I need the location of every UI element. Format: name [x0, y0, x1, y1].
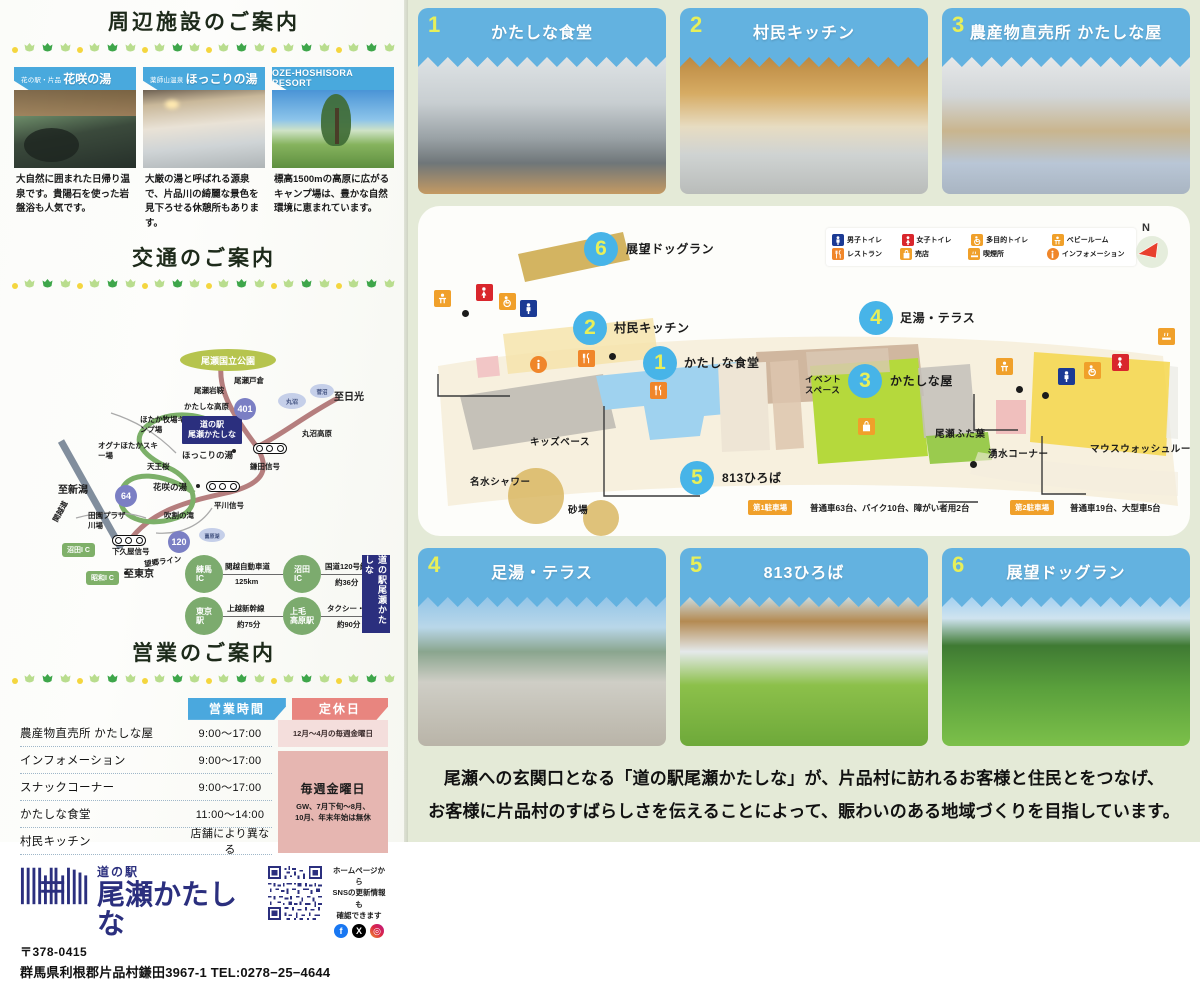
- information-icon: [530, 356, 547, 373]
- womens-toilet-icon: [476, 284, 493, 301]
- traffic-title: 交通のご案内: [10, 232, 398, 272]
- legend-label: インフォメーション: [1062, 249, 1125, 259]
- tulip-icon: [365, 672, 378, 690]
- tulip-icon: [318, 278, 331, 290]
- route-mid-label: 関越自動車道: [225, 561, 270, 572]
- hours-table: 営業時間 定休日 農産物直売所 かたしな屋 9:00〜17:00 インフォメーシ…: [20, 698, 388, 855]
- tulip-icon: [253, 41, 266, 59]
- flower-dot-icon: [12, 678, 18, 684]
- map-label-spring-water: 湧水コーナー: [988, 446, 1049, 460]
- map-label-kids-base: キッズベース: [530, 434, 590, 448]
- tulip-icon: [365, 673, 378, 685]
- footer-line-1: 尾瀬への玄関口となる「道の駅尾瀬かたしな」が、片品村に訪れるお客様と住民とをつな…: [418, 762, 1190, 795]
- instagram-icon[interactable]: ◎: [370, 924, 384, 938]
- address-line: 群馬県利根郡片品村鎌田3967-1 TEL:0278−25−4644: [20, 962, 388, 981]
- brand-line2: 尾瀬かたしな: [97, 880, 258, 939]
- legend-row: レストラン 売店 喫煙所: [832, 248, 1130, 260]
- accessible-toilet-icon: [971, 234, 983, 246]
- photo-card-number: 4: [428, 552, 440, 578]
- legend-item: インフォメーション: [1047, 248, 1130, 260]
- map-point-dot: [462, 310, 469, 317]
- michinoeki-logo-icon: [20, 863, 91, 907]
- tulip-icon: [171, 42, 184, 54]
- right-panel: 1 かたしな食堂 2 村民キッチン: [408, 0, 1200, 842]
- mens-toilet-icon: [832, 234, 844, 246]
- map-label-hokkori: ほっこりの湯: [182, 449, 233, 461]
- tulip-icon: [282, 277, 295, 295]
- map-label-2: 村民キッチン: [614, 319, 690, 336]
- map-label-1: かたしな食堂: [684, 354, 760, 371]
- baby-room-icon: [1052, 234, 1064, 246]
- zigzag-mask: [418, 54, 666, 70]
- map-marker-2[interactable]: 2: [573, 311, 607, 345]
- closed-days-label: 毎週金曜日: [300, 780, 365, 797]
- map-label-oze-iwakura: 尾瀬岩鞍: [194, 385, 224, 396]
- tulip-icon: [217, 42, 230, 54]
- tulip-icon: [217, 672, 230, 690]
- table-row: インフォメーション 9:00〜17:00: [20, 747, 272, 774]
- photo-card-title: 展望ドッグラン: [1006, 559, 1125, 583]
- ic-badge-numata: 沼田I C: [62, 543, 95, 557]
- map-label-katashina-kogen: かたしな高原: [184, 401, 229, 412]
- flower-dot-icon: [142, 678, 148, 684]
- tulip-icon: [106, 277, 119, 295]
- flower-divider-1: [12, 41, 396, 59]
- traffic-light-hirakawa: [206, 481, 240, 492]
- brand-line1: 道の駅: [97, 863, 258, 880]
- tulip-icon: [23, 41, 36, 59]
- top-photo-cards: 1 かたしな食堂 2 村民キッチン: [418, 8, 1190, 194]
- hours-row-time: 9:00〜17:00: [188, 779, 272, 795]
- legend-label: 売店: [915, 249, 929, 259]
- facility-photo: [143, 90, 265, 168]
- photo-card-title: 農産物直売所 かたしな屋: [970, 19, 1162, 43]
- map-spot-dot: [124, 571, 128, 575]
- map-label-denen-plaza: 田園プラザ川場: [88, 511, 130, 531]
- map-label-marunuma-kogen: 丸沼高原: [302, 428, 332, 439]
- facility-banner-big: ほっこりの湯: [186, 70, 258, 87]
- tulip-icon: [365, 42, 378, 54]
- tulip-icon: [235, 278, 248, 290]
- map-label-oguna-ski: オグナほたかスキー場: [98, 441, 160, 461]
- facility-card[interactable]: 薬師山温泉 ほっこりの湯 大厳の湯と呼ばれる源泉で、片品川の綺麗な景色を見下ろせ…: [143, 67, 265, 232]
- photo-card-title: かたしな食堂: [491, 19, 593, 43]
- tulip-icon: [153, 42, 166, 54]
- route-node-nerima-ic: 練馬IC: [185, 555, 223, 593]
- tulip-icon: [124, 42, 137, 54]
- closed-days-main: 毎週金曜日 GW、7月下旬〜8月、 10月、年末年始は無休: [278, 751, 388, 853]
- photo-card-header: 6 展望ドッグラン: [942, 548, 1190, 594]
- tulip-icon: [171, 277, 184, 295]
- route-end-sub: 約90分: [337, 619, 360, 630]
- photo-card[interactable]: 2 村民キッチン: [680, 8, 928, 194]
- tulip-icon: [318, 42, 331, 54]
- tulip-icon: [188, 673, 201, 685]
- tulip-icon: [282, 672, 295, 690]
- tulip-icon: [88, 673, 101, 685]
- facility-caption: 大自然に囲まれた日帰り温泉です。貴陽石を使った岩盤浴も人気です。: [14, 168, 136, 217]
- tulip-icon: [365, 277, 378, 295]
- flower-dot-icon: [12, 47, 18, 53]
- tulip-icon: [253, 672, 266, 690]
- zigzag-mask: [418, 594, 666, 610]
- photo-card-image: [680, 54, 928, 194]
- tulip-icon: [253, 278, 266, 290]
- hours-rows: 農産物直売所 かたしな屋 9:00〜17:00 インフォメーション 9:00〜1…: [20, 720, 272, 855]
- hours-row-time: 9:00〜17:00: [188, 752, 272, 768]
- route-node-tokyo-sta: 東京駅: [185, 597, 223, 635]
- address-block: 〒378-0415 群馬県利根郡片品村鎌田3967-1 TEL:0278−25−…: [20, 943, 388, 981]
- facebook-icon[interactable]: f: [334, 924, 348, 938]
- map-label-shimokuya-signal: 下久屋信号: [112, 546, 150, 557]
- legend-item: ベビールーム: [1052, 234, 1130, 246]
- flower-dot-icon: [77, 678, 83, 684]
- flower-dot-icon: [206, 678, 212, 684]
- legend-item: レストラン: [832, 248, 896, 260]
- tulip-icon: [365, 41, 378, 59]
- tulip-icon: [41, 672, 54, 690]
- flower-dot-icon: [142, 47, 148, 53]
- hours-col-time: 営業時間: [188, 698, 286, 720]
- tulip-icon: [300, 277, 313, 295]
- compass-north-label: N: [1142, 222, 1150, 234]
- tulip-icon: [153, 277, 166, 295]
- map-label-oze-futaba: 尾瀬ふた葉: [935, 426, 986, 440]
- tulip-icon: [153, 278, 166, 290]
- map-marker-5[interactable]: 5: [680, 461, 714, 495]
- route-table: 練馬IC 沼田IC 東京駅 上毛高原駅 関越自動車道 125km 国道120号線…: [185, 555, 390, 633]
- svg-text:丸沼: 丸沼: [285, 398, 298, 406]
- map-marker-3[interactable]: 3: [848, 364, 882, 398]
- tulip-icon: [59, 673, 72, 685]
- restaurant-icon: [650, 382, 667, 399]
- tulip-icon: [253, 277, 266, 295]
- map-label-meisui-shower: 名水シャワー: [470, 474, 531, 488]
- tulip-icon: [318, 277, 331, 295]
- tulip-icon: [188, 42, 201, 54]
- tulip-icon: [253, 673, 266, 685]
- photo-card[interactable]: 1 かたしな食堂: [418, 8, 666, 194]
- sns-note: ホームページから SNSの更新情報も 確認できます: [330, 865, 388, 921]
- bottom-photo-cards: 4 足湯・テラス 5 813ひろば: [418, 548, 1190, 746]
- x-icon[interactable]: X: [352, 924, 366, 938]
- tulip-icon: [124, 277, 137, 295]
- womens-toilet-icon: [902, 234, 914, 246]
- tulip-icon: [23, 42, 36, 54]
- photo-card-header: 1 かたしな食堂: [418, 8, 666, 54]
- map-label-4: 足湯・テラス: [900, 309, 975, 326]
- map-label-to-nikko: 至日光: [334, 388, 364, 403]
- route-badge-120: 120: [168, 531, 190, 553]
- ic-badge-showa: 昭和I C: [86, 571, 119, 585]
- map-marker-4[interactable]: 4: [859, 301, 893, 335]
- tulip-icon: [106, 41, 119, 59]
- tulip-icon: [300, 672, 313, 690]
- tulip-icon: [171, 278, 184, 290]
- legend-item: 喫煙所: [968, 248, 1043, 260]
- legend-item: 女子トイレ: [902, 234, 968, 246]
- map-marker-1[interactable]: 1: [643, 346, 677, 380]
- parking-detail-2: 普通車19台、大型車5台: [1070, 502, 1161, 514]
- facility-banner: OZE-HOSHISORA RESORT: [272, 67, 394, 90]
- tulip-icon: [59, 672, 72, 690]
- photo-card-title: 足湯・テラス: [491, 559, 593, 583]
- flower-dot-icon: [206, 283, 212, 289]
- flower-dot-icon: [336, 47, 342, 53]
- photo-card[interactable]: 3 農産物直売所 かたしな屋: [942, 8, 1190, 194]
- qr-code-icon[interactable]: [268, 865, 322, 921]
- postal-code: 〒378-0415: [20, 943, 388, 960]
- zigzag-mask: [680, 594, 928, 610]
- map-marker-6[interactable]: 6: [584, 232, 618, 266]
- parking-detail-1: 普通車63台、バイク10台、障がい者用2台: [810, 502, 969, 514]
- route-mid-label: 上越新幹線: [227, 603, 265, 614]
- facility-photo: [14, 90, 136, 168]
- photo-card[interactable]: 5 813ひろば: [680, 548, 928, 746]
- tulip-icon: [235, 41, 248, 59]
- map-label-hanasaki: 花咲の湯: [153, 481, 187, 493]
- flower-dot-icon: [271, 47, 277, 53]
- flower-divider-2: [12, 277, 396, 295]
- tulip-icon: [88, 277, 101, 295]
- tulip-icon: [124, 673, 137, 685]
- legend-item: 多目的トイレ: [971, 234, 1048, 246]
- tulip-icon: [23, 277, 36, 295]
- tulip-icon: [41, 41, 54, 59]
- photo-card-number: 2: [690, 12, 702, 38]
- sns-block: ホームページから SNSの更新情報も 確認できます f X ◎: [330, 865, 388, 938]
- parking-tag-1: 第1駐車場: [748, 500, 792, 515]
- tulip-icon: [88, 672, 101, 690]
- left-panel: 周辺施設のご案内 花の駅・片品 花咲の湯 大自然に囲まれた日帰り温泉です。貴陽石…: [0, 0, 408, 842]
- tulip-icon: [300, 278, 313, 290]
- map-label-tennouzakura: 天王桜: [147, 461, 170, 472]
- hours-col-closed: 定休日: [292, 698, 388, 720]
- tulip-icon: [106, 42, 119, 54]
- flower-dot-icon: [77, 47, 83, 53]
- tulip-icon: [217, 41, 230, 59]
- tulip-icon: [124, 41, 137, 59]
- map-label-to-niigata: 至新潟: [58, 481, 88, 496]
- route-badge-401: 401: [234, 398, 256, 420]
- closed-days-note: GW、7月下旬〜8月、 10月、年末年始は無休: [295, 801, 371, 824]
- tulip-icon: [171, 672, 184, 690]
- map-label-6: 展望ドッグラン: [626, 240, 714, 257]
- baby-room-icon: [434, 290, 451, 307]
- tulip-icon: [171, 673, 184, 685]
- photo-card-image: [418, 54, 666, 194]
- map-label-mouthwash-room: マウスウォッシュルーム: [1090, 441, 1190, 455]
- svg-text:尾瀬国立公園: 尾瀬国立公園: [200, 355, 255, 366]
- hours-row-time: 11:00〜14:00: [188, 806, 272, 822]
- tulip-icon: [383, 42, 396, 54]
- photo-card-image: [942, 594, 1190, 746]
- route-node-jomo-takasaki: 上毛高原駅: [283, 597, 321, 635]
- tulip-icon: [59, 42, 72, 54]
- tulip-icon: [23, 673, 36, 685]
- route-end-sub: 約36分: [335, 577, 358, 588]
- photo-card-header: 3 農産物直売所 かたしな屋: [942, 8, 1190, 54]
- hours-row-name: 農産物直売所 かたしな屋: [20, 725, 188, 741]
- station-pill: 道の駅尾瀬かたしな: [182, 416, 242, 444]
- tulip-icon: [124, 278, 137, 290]
- photo-card[interactable]: 4 足湯・テラス: [418, 548, 666, 746]
- tulip-icon: [171, 41, 184, 59]
- legend-label: 女子トイレ: [917, 235, 952, 245]
- transport-map: 尾瀬国立公園 丸沼 菅沼 薗原湖 尾瀬戸倉 尾瀬岩鞍 かたしな高原 至日光 丸沼…: [16, 303, 392, 553]
- footer-line-2: お客様に片品村のすばらしさを伝えることによって、賑わいのある地域づくりを目指して…: [418, 795, 1190, 828]
- svg-text:菅沼: 菅沼: [316, 388, 328, 396]
- tulip-icon: [88, 278, 101, 290]
- flower-dot-icon: [142, 283, 148, 289]
- map-spot-dot: [196, 484, 200, 488]
- tulip-icon: [217, 277, 230, 295]
- tulip-icon: [347, 673, 360, 685]
- tulip-icon: [300, 42, 313, 54]
- zigzag-mask: [942, 54, 1190, 70]
- tulip-icon: [23, 278, 36, 290]
- accessible-toilet-icon: [499, 293, 516, 310]
- shop-icon: [900, 248, 912, 260]
- tulip-icon: [318, 41, 331, 59]
- flower-dot-icon: [271, 678, 277, 684]
- legend-label: 男子トイレ: [847, 235, 882, 245]
- facility-banner-small: 花の駅・片品: [21, 74, 61, 84]
- map-spot-dot: [232, 449, 236, 453]
- tulip-icon: [347, 672, 360, 690]
- facility-banner-big: 花咲の湯: [63, 70, 111, 87]
- tulip-icon: [347, 278, 360, 290]
- tulip-icon: [153, 673, 166, 685]
- table-row: 農産物直売所 かたしな屋 9:00〜17:00: [20, 720, 272, 747]
- map-label-sandpit: 砂場: [568, 502, 588, 516]
- nearby-facilities-title: 周辺施設のご案内: [10, 0, 398, 36]
- photo-card-number: 3: [952, 12, 964, 38]
- mens-toilet-icon: [1058, 368, 1075, 385]
- hours-row-name: 村民キッチン: [20, 833, 188, 849]
- tulip-icon: [41, 278, 54, 290]
- photo-card[interactable]: 6 展望ドッグラン: [942, 548, 1190, 746]
- map-label-event-space: イベントスペース: [805, 374, 845, 395]
- facility-banner-big: OZE-HOSHISORA RESORT: [272, 69, 394, 88]
- tulip-icon: [235, 673, 248, 685]
- facility-banner-small: 薬師山温泉: [150, 74, 184, 84]
- tulip-icon: [23, 672, 36, 690]
- photo-card-header: 2 村民キッチン: [680, 8, 928, 54]
- hours-row-name: かたしな食堂: [20, 806, 188, 822]
- facility-caption: 標高1500mの高原に広がるキャンプ場は、豊かな自然環境に恵まれています。: [272, 168, 394, 217]
- tulip-icon: [282, 278, 295, 290]
- route-connector: [223, 574, 283, 576]
- table-row: 村民キッチン 店舗により異なる: [20, 828, 272, 855]
- sns-icon-row: f X ◎: [330, 924, 388, 938]
- route-badge-64: 64: [115, 485, 137, 507]
- womens-toilet-icon: [1112, 354, 1129, 371]
- tulip-icon: [188, 41, 201, 59]
- flower-dot-icon: [336, 283, 342, 289]
- svg-text:薗原湖: 薗原湖: [204, 533, 219, 540]
- map-point-dot: [1016, 386, 1023, 393]
- facility-photo: [272, 90, 394, 168]
- photo-card-image: [418, 594, 666, 746]
- flower-dot-icon: [12, 283, 18, 289]
- restaurant-icon: [578, 350, 595, 367]
- tulip-icon: [188, 672, 201, 690]
- map-label-fukiware: 吹割の滝: [164, 510, 194, 521]
- facility-card[interactable]: OZE-HOSHISORA RESORT 標高1500mの高原に広がるキャンプ場…: [272, 67, 394, 232]
- flower-dot-icon: [77, 283, 83, 289]
- tulip-icon: [383, 672, 396, 690]
- photo-card-image: [680, 594, 928, 746]
- tulip-icon: [106, 278, 119, 290]
- hours-row-name: インフォメーション: [20, 752, 188, 768]
- closed-days-top: 12月〜4月の毎週金曜日: [278, 720, 388, 747]
- tulip-icon: [300, 41, 313, 59]
- map-point-dot: [1042, 392, 1049, 399]
- facility-caption: 大厳の湯と呼ばれる源泉で、片品川の綺麗な景色を見下ろせる休憩所もあります。: [143, 168, 265, 232]
- map-label-to-tokyo: 至東京: [124, 565, 154, 580]
- legend-label: 多目的トイレ: [986, 235, 1028, 245]
- shop-icon: [858, 418, 875, 435]
- hours-table-header: 営業時間 定休日: [188, 698, 388, 720]
- tulip-icon: [347, 42, 360, 54]
- tulip-icon: [235, 277, 248, 295]
- tulip-icon: [383, 277, 396, 295]
- tulip-icon: [383, 41, 396, 59]
- tulip-icon: [383, 278, 396, 290]
- smoking-area-icon: [968, 248, 980, 260]
- hours-row-time: 9:00〜17:00: [188, 725, 272, 741]
- hours-row-time: 店舗により異なる: [188, 825, 272, 857]
- map-point-dot: [970, 461, 977, 468]
- facility-banner: 薬師山温泉 ほっこりの湯: [143, 67, 265, 90]
- facility-card[interactable]: 花の駅・片品 花咲の湯 大自然に囲まれた日帰り温泉です。貴陽石を使った岩盤浴も人…: [14, 67, 136, 232]
- legend-item: 売店: [900, 248, 964, 260]
- baby-room-icon: [996, 358, 1013, 375]
- nearby-facility-cards: 花の駅・片品 花咲の湯 大自然に囲まれた日帰り温泉です。貴陽石を使った岩盤浴も人…: [10, 67, 398, 232]
- map-label-hirakawa-signal: 平川信号: [214, 500, 244, 511]
- brand-text: 道の駅 尾瀬かたしな: [97, 863, 258, 939]
- tulip-icon: [253, 42, 266, 54]
- legend-label: レストラン: [847, 249, 882, 259]
- route-mid-sub: 125km: [235, 577, 258, 586]
- photo-card-image: [942, 54, 1190, 194]
- tulip-icon: [59, 277, 72, 295]
- photo-card-title: 813ひろば: [764, 559, 845, 583]
- tulip-icon: [300, 673, 313, 685]
- map-label-ozetokura: 尾瀬戸倉: [234, 375, 264, 386]
- tulip-icon: [88, 42, 101, 54]
- photo-card-title: 村民キッチン: [753, 19, 855, 43]
- tulip-icon: [217, 673, 230, 685]
- information-icon: [1047, 248, 1059, 260]
- tulip-icon: [365, 278, 378, 290]
- tulip-icon: [124, 672, 137, 690]
- zigzag-mask: [680, 54, 928, 70]
- mens-toilet-icon: [520, 300, 537, 317]
- route-destination: 道の駅尾瀬かたしな: [362, 555, 390, 633]
- tulip-icon: [383, 673, 396, 685]
- route-node-numata-ic: 沼田IC: [283, 555, 321, 593]
- table-row: かたしな食堂 11:00〜14:00: [20, 801, 272, 828]
- flower-dot-icon: [271, 283, 277, 289]
- hours-title: 営業のご案内: [10, 633, 398, 667]
- smoking-area-icon: [1158, 328, 1175, 345]
- brand-block: 道の駅 尾瀬かたしな: [20, 863, 388, 939]
- flower-dot-icon: [206, 47, 212, 53]
- tulip-icon: [153, 41, 166, 59]
- tulip-icon: [88, 41, 101, 59]
